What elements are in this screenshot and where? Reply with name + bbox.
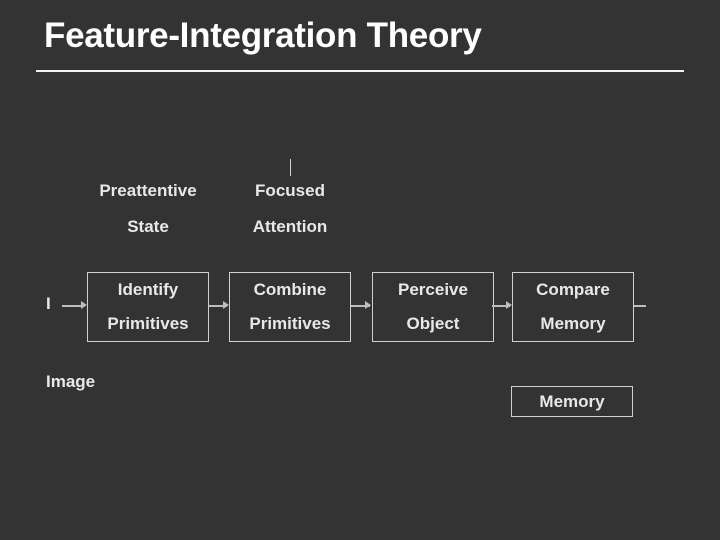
input-label-image-I: I	[46, 294, 51, 314]
page-title: Feature-Integration Theory	[44, 16, 482, 56]
title-divider	[36, 70, 684, 72]
slide-canvas: Feature-Integration Theory Preattentive …	[0, 0, 720, 540]
phase-label-focused: Focused Attention	[215, 173, 365, 245]
process-box-identify-line1: Identify	[118, 273, 178, 307]
phase-label-preattentive: Preattentive State	[58, 173, 238, 245]
process-box-perceive-object[interactable]: Perceive Object	[372, 272, 494, 342]
process-box-compare-memory[interactable]: Compare Memory	[512, 272, 634, 342]
process-box-combine-primitives[interactable]: Combine Primitives	[229, 272, 351, 342]
focused-attention-tick-mark	[290, 159, 291, 176]
arrow-head-icon-combine-to-perceive	[365, 301, 371, 309]
process-box-perceive-line2: Object	[407, 307, 460, 341]
process-box-combine-line2: Primitives	[249, 307, 330, 341]
image-label: Image	[46, 372, 95, 392]
process-box-compare-line2: Memory	[540, 307, 605, 341]
process-box-identify-line2: Primitives	[107, 307, 188, 341]
process-box-compare-line1: Compare	[536, 273, 610, 307]
process-box-combine-line1: Combine	[254, 273, 327, 307]
memory-store-label: Memory	[539, 392, 604, 412]
phase-focused-line2: Attention	[215, 209, 365, 245]
connector-compare-output-stub	[634, 305, 646, 307]
process-box-perceive-line1: Perceive	[398, 273, 468, 307]
phase-focused-line1: Focused	[255, 181, 325, 200]
memory-store-box[interactable]: Memory	[511, 386, 633, 417]
phase-preattentive-line1: Preattentive	[99, 181, 196, 200]
process-box-identify-primitives[interactable]: Identify Primitives	[87, 272, 209, 342]
phase-preattentive-line2: State	[58, 209, 238, 245]
